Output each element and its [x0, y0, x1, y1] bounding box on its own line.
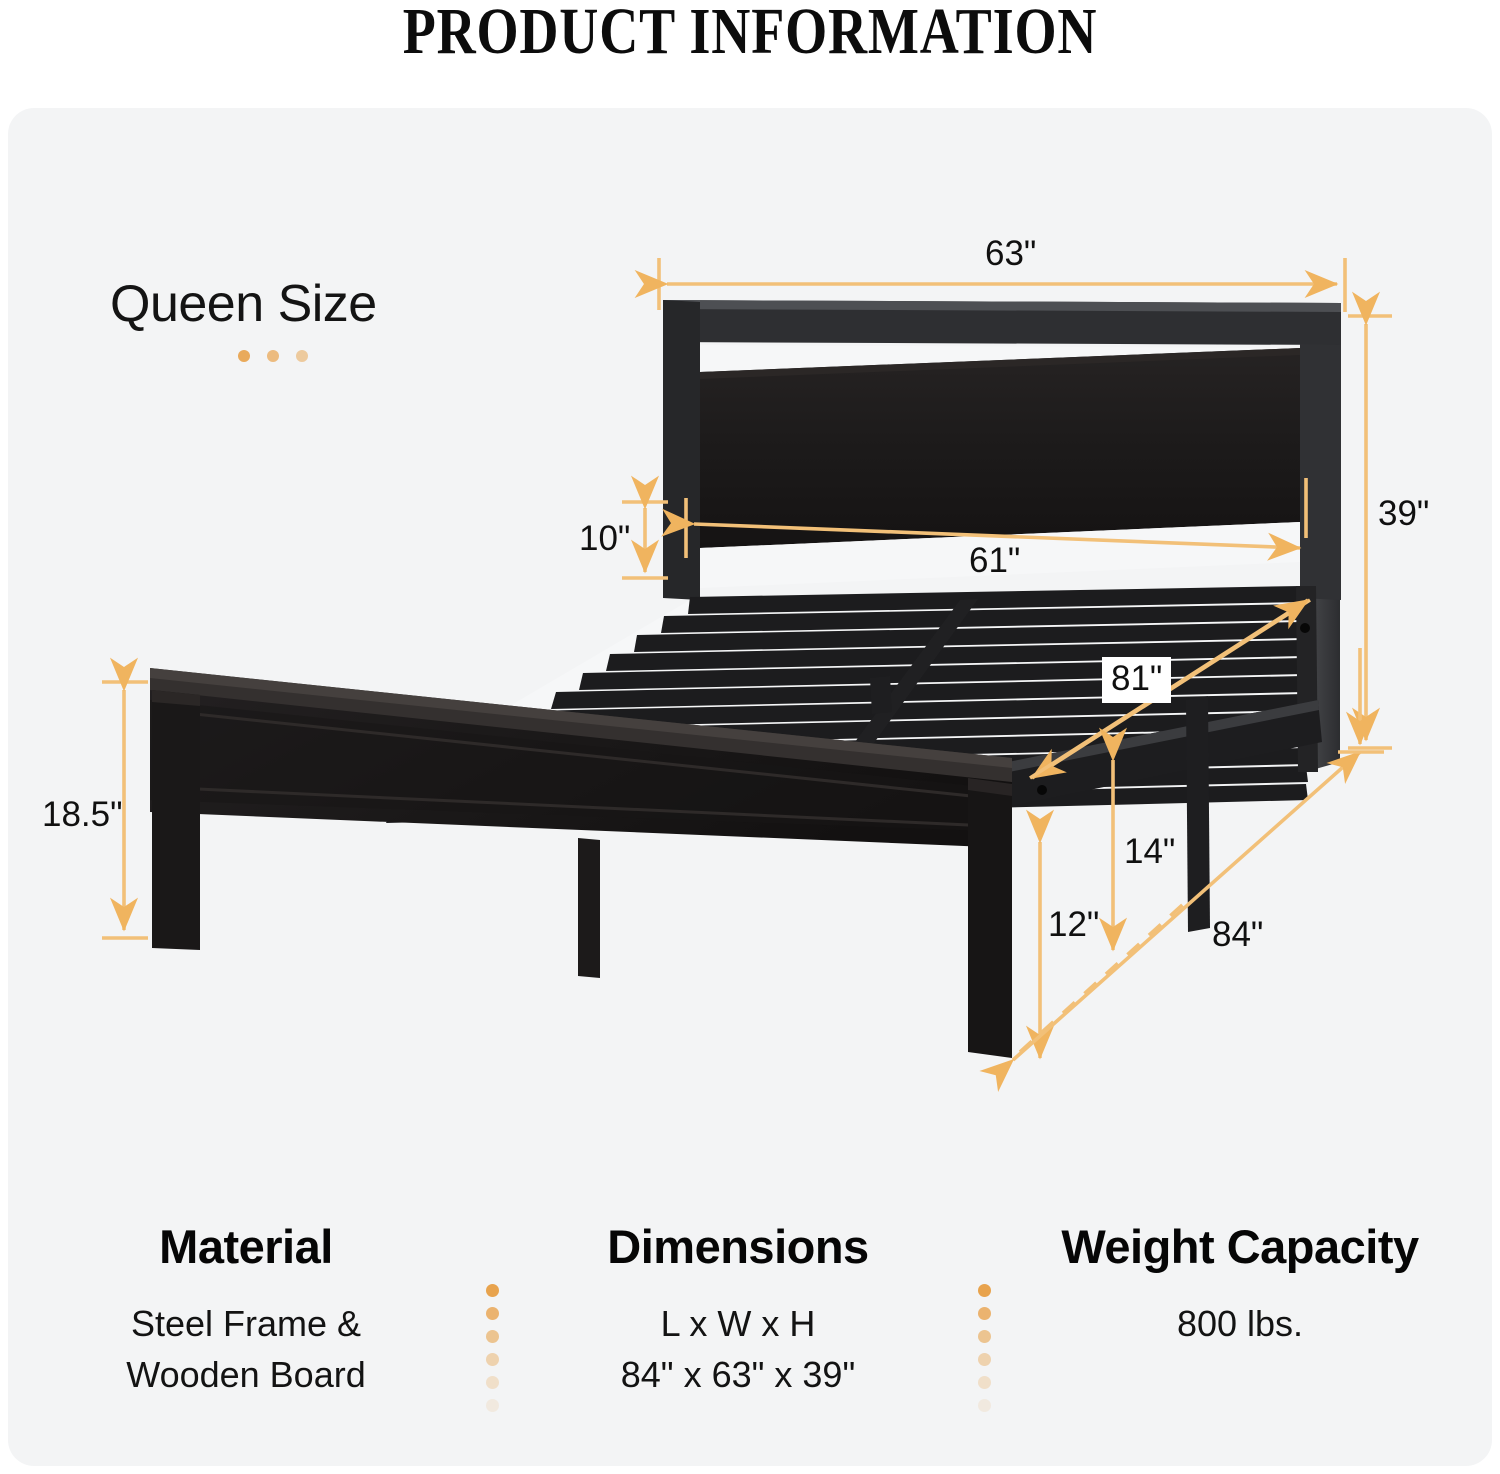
guide-84-dashed [1020, 898, 1190, 1052]
spec-material-body: Steel Frame & Wooden Board [26, 1298, 466, 1400]
spec-weight-capacity-title: Weight Capacity [1010, 1222, 1470, 1272]
spec-dimensions-line-1: L x W x H [518, 1298, 958, 1349]
spec-weight-capacity-body: 800 lbs. [1010, 1298, 1470, 1349]
size-badge: Queen Size [110, 278, 377, 362]
dim-label-footboard-height: 18.5" [42, 795, 123, 835]
dim-label-headboard-height: 39" [1378, 494, 1429, 534]
dim-label-overall-width: 63" [985, 234, 1036, 274]
spec-dimensions-line-2: 84" x 63" x 39" [518, 1349, 958, 1400]
spec-weight-capacity: Weight Capacity 800 lbs. [1010, 1222, 1470, 1349]
three-dots-accent-icon [238, 350, 377, 362]
spec-divider-dots-icon-1 [466, 1222, 518, 1412]
spec-weight-capacity-line-1: 800 lbs. [1010, 1298, 1470, 1349]
spec-divider-dots-icon-2 [958, 1222, 1010, 1412]
spec-dimensions: Dimensions L x W x H 84" x 63" x 39" [518, 1222, 958, 1400]
spec-material-line-1: Steel Frame & [26, 1298, 466, 1349]
dim-label-overall-length: 84" [1212, 915, 1263, 955]
dim-label-deck-height: 14" [1124, 832, 1175, 872]
spec-material: Material Steel Frame & Wooden Board [26, 1222, 466, 1400]
spec-dimensions-title: Dimensions [518, 1222, 958, 1272]
dim-label-inner-length: 81" [1102, 657, 1171, 703]
dim-label-under-bed-clearance: 12" [1048, 905, 1099, 945]
size-label: Queen Size [110, 278, 377, 330]
spec-row: Material Steel Frame & Wooden Board Dime… [8, 1222, 1492, 1442]
dim-label-inner-width: 61" [969, 541, 1020, 581]
spec-dimensions-body: L x W x H 84" x 63" x 39" [518, 1298, 958, 1400]
dim-label-headboard-panel-gap: 10" [579, 519, 630, 559]
spec-material-title: Material [26, 1222, 466, 1272]
spec-material-line-2: Wooden Board [26, 1349, 466, 1400]
